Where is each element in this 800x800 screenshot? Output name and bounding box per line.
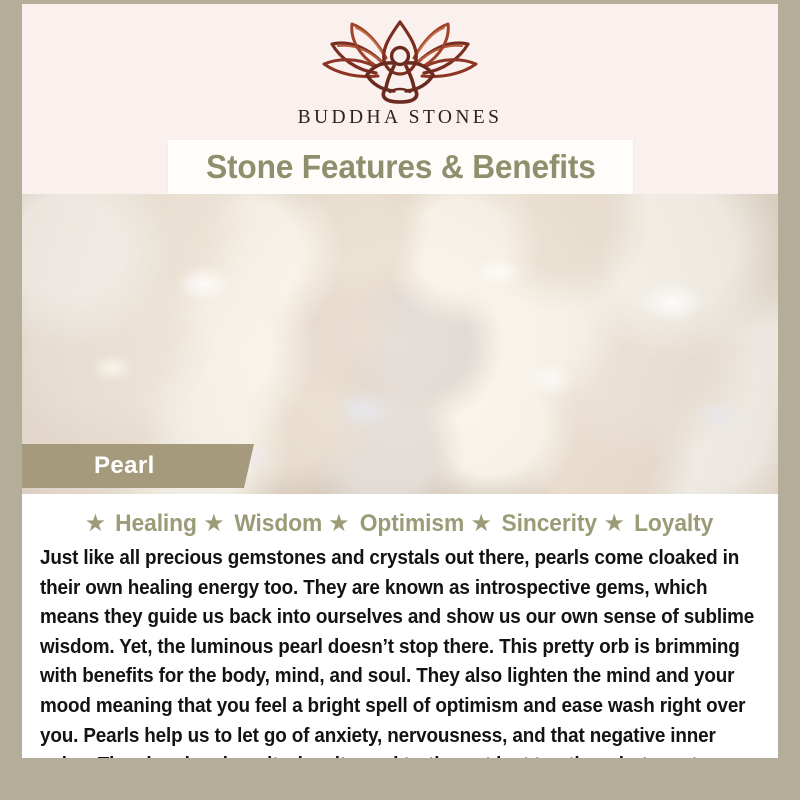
- star-icon: ★: [604, 512, 626, 536]
- star-icon: ★: [471, 512, 493, 536]
- stone-name-label: Pearl: [94, 452, 155, 480]
- benefit-item-loyalty: ★ Loyalty: [604, 510, 716, 538]
- benefit-label: Healing: [115, 510, 197, 538]
- description-text: Just like all precious gemstones and cry…: [40, 544, 760, 758]
- benefit-label: Loyalty: [634, 510, 713, 538]
- star-icon: ★: [85, 512, 107, 536]
- star-icon: ★: [203, 512, 225, 536]
- brand-wordmark: BUDDHA STONES: [298, 107, 503, 129]
- benefit-item-wisdom: ★ Wisdom: [203, 510, 324, 538]
- lotus-meditation-figure-icon: [310, 18, 490, 104]
- benefit-label: Optimism: [359, 510, 463, 538]
- decorative-frame-right: [778, 0, 800, 760]
- page-title-banner: Stone Features & Benefits: [168, 140, 633, 194]
- benefit-item-optimism: ★ Optimism: [328, 510, 466, 538]
- description-panel: ★ Healing ★ Wisdom ★ Optimism ★ Sincerit…: [22, 494, 778, 758]
- benefit-item-sincerity: ★ Sincerity: [471, 510, 600, 538]
- decorative-frame-bottom-left: [0, 758, 640, 800]
- content-card: BUDDHA STONES Stone Features & Benefits …: [22, 4, 778, 758]
- benefit-label: Wisdom: [234, 510, 322, 538]
- benefit-keyword-list: ★ Healing ★ Wisdom ★ Optimism ★ Sincerit…: [40, 510, 760, 538]
- stone-benefits-infographic: BUDDHA STONES Stone Features & Benefits …: [0, 0, 800, 800]
- stone-name-band: Pearl: [22, 444, 254, 488]
- decorative-frame-left: [0, 22, 22, 800]
- benefit-item-healing: ★ Healing: [85, 510, 200, 538]
- benefit-label: Sincerity: [502, 510, 597, 538]
- brand-logo-block: BUDDHA STONES: [22, 4, 778, 140]
- page-title: Stone Features & Benefits: [206, 148, 596, 186]
- star-icon: ★: [328, 512, 350, 536]
